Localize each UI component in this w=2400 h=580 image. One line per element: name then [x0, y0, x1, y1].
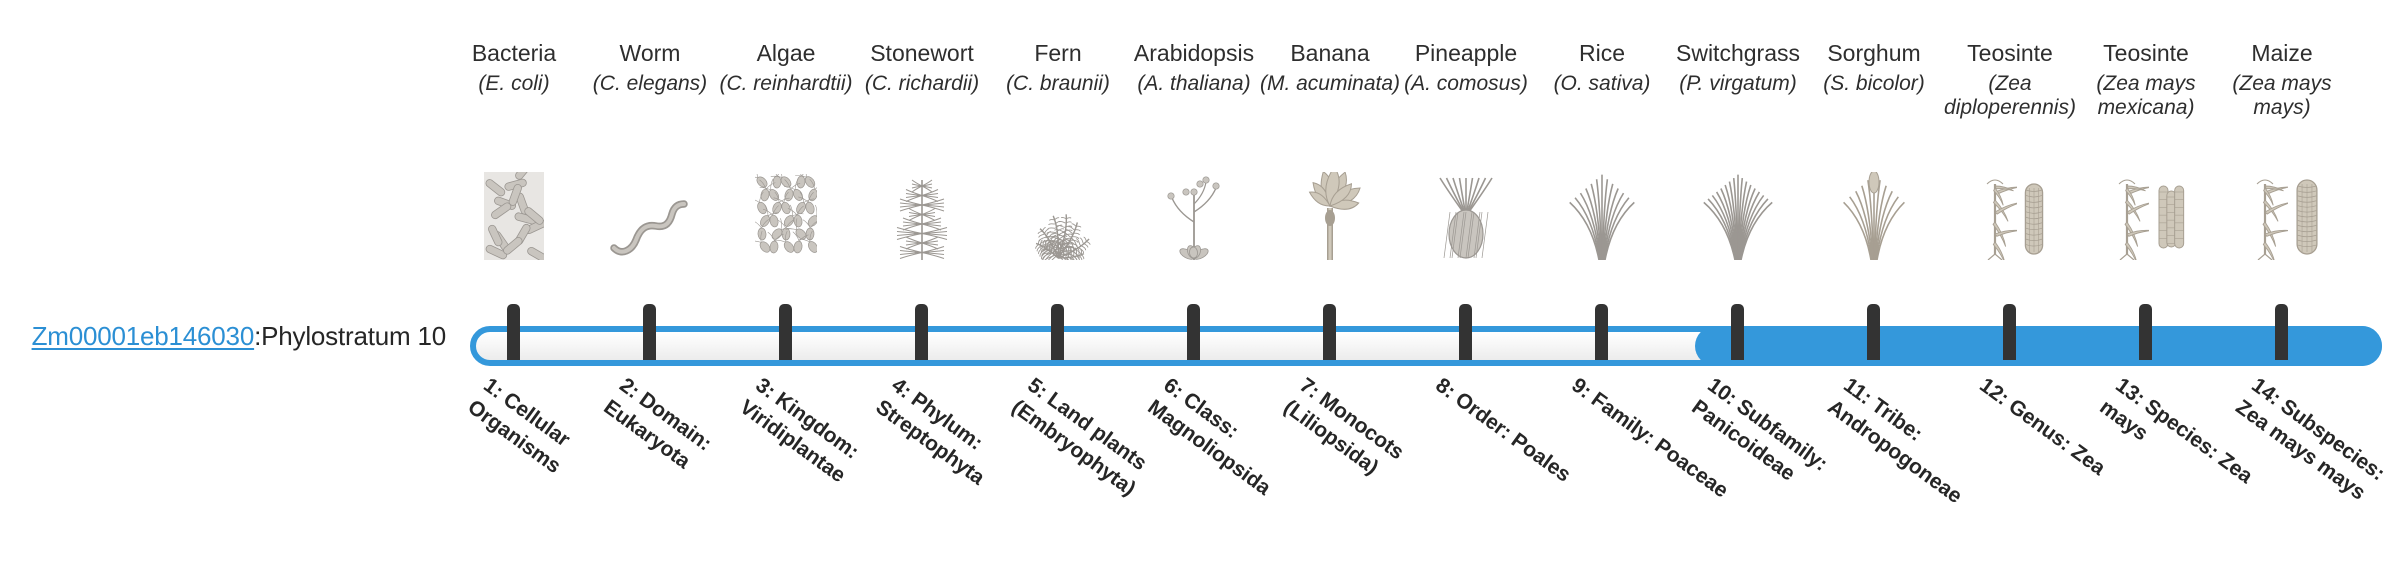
- rank-tick-1: [507, 304, 520, 360]
- arabidopsis-illustration: [1126, 168, 1262, 260]
- rank-label-wrapper: 3: Kingdom: Viridiplantae: [766, 372, 806, 572]
- species-scientific-name: (S. bicolor): [1802, 72, 1946, 96]
- species-common-name: Stonewort: [846, 40, 998, 66]
- rank-tick-4: [915, 304, 928, 360]
- species-scientific-name: (C. braunii): [986, 72, 1130, 96]
- species-column-13: Teosinte(Zea mays mexicana)13: Species: …: [2078, 0, 2214, 580]
- pineapple-illustration: [1398, 168, 1534, 260]
- rank-label-wrapper: 8: Order: Poales: [1446, 372, 1486, 572]
- fern-illustration: [990, 168, 1126, 260]
- rank-label-wrapper: 13: Species: Zea mays: [2126, 372, 2166, 572]
- rank-tick-14: [2275, 304, 2288, 360]
- species-common-name: Switchgrass: [1662, 40, 1814, 66]
- banana-illustration: [1262, 168, 1398, 260]
- algae-illustration: [718, 168, 854, 260]
- species-common-name: Bacteria: [438, 40, 590, 66]
- rank-label-wrapper: 2: Domain: Eukaryota: [630, 372, 670, 572]
- species-common-name: Rice: [1526, 40, 1678, 66]
- switchgrass-illustration: [1670, 168, 1806, 260]
- species-common-name: Banana: [1254, 40, 1406, 66]
- species-common-name: Fern: [982, 40, 1134, 66]
- rank-tick-13: [2139, 304, 2152, 360]
- rank-tick-10: [1731, 304, 1744, 360]
- bacteria-illustration: [446, 168, 582, 260]
- species-scientific-name: (Zea diploperennis): [1938, 72, 2082, 120]
- species-column-10: Switchgrass(P. virgatum)10: Subfamily: P…: [1670, 0, 1806, 580]
- rank-label-wrapper: 7: Monocots (Liliopsida): [1310, 372, 1350, 572]
- rank-label-wrapper: 10: Subfamily: Panicoideae: [1718, 372, 1758, 572]
- species-column-9: Rice(O. sativa)9: Family: Poaceae: [1534, 0, 1670, 580]
- worm-illustration: [582, 168, 718, 260]
- rank-tick-11: [1867, 304, 1880, 360]
- species-scientific-name: (E. coli): [442, 72, 586, 96]
- teosinte-mexicana-illustration: [2078, 168, 2214, 260]
- rank-tick-2: [643, 304, 656, 360]
- rank-label-wrapper: 5: Land plants (Embryophyta): [1038, 372, 1078, 572]
- rice-illustration: [1534, 168, 1670, 260]
- rank-tick-5: [1051, 304, 1064, 360]
- rank-label-wrapper: 11: Tribe: Andropogoneae: [1854, 372, 1894, 572]
- rank-label-wrapper: 12: Genus: Zea: [1990, 372, 2030, 572]
- teosinte-diploperennis-illustration: [1942, 168, 2078, 260]
- species-scientific-name: (A. thaliana): [1122, 72, 1266, 96]
- species-column-1: Bacteria(E. coli)1: Cellular Organisms: [446, 0, 582, 580]
- rank-label-wrapper: 9: Family: Poaceae: [1582, 372, 1622, 572]
- sorghum-illustration: [1806, 168, 1942, 260]
- species-scientific-name: (A. comosus): [1394, 72, 1538, 96]
- species-common-name: Arabidopsis: [1118, 40, 1270, 66]
- gene-id-link[interactable]: Zm00001eb146030: [32, 321, 255, 352]
- species-common-name: Pineapple: [1390, 40, 1542, 66]
- species-scientific-name: (C. richardii): [850, 72, 994, 96]
- species-scientific-name: (C. reinhardtii): [714, 72, 858, 96]
- rank-label-wrapper: 6: Class: Magnoliopsida: [1174, 372, 1214, 572]
- rank-tick-6: [1187, 304, 1200, 360]
- rank-tick-3: [779, 304, 792, 360]
- species-common-name: Algae: [710, 40, 862, 66]
- species-common-name: Sorghum: [1798, 40, 1950, 66]
- species-scientific-name: (P. virgatum): [1666, 72, 1810, 96]
- species-common-name: Worm: [574, 40, 726, 66]
- gene-label-separator: :: [254, 321, 261, 352]
- rank-label-wrapper: 1: Cellular Organisms: [494, 372, 534, 572]
- species-common-name: Maize: [2206, 40, 2358, 66]
- phylostratum-figure: Zm00001eb146030: Phylostratum 10 Bacteri…: [0, 0, 2400, 580]
- rank-label-wrapper: 4: Phylum: Streptophyta: [902, 372, 942, 572]
- rank-tick-8: [1459, 304, 1472, 360]
- species-columns: Bacteria(E. coli)1: Cellular OrganismsWo…: [446, 0, 2400, 580]
- species-scientific-name: (Zea mays mays): [2210, 72, 2354, 120]
- rank-tick-7: [1323, 304, 1336, 360]
- maize-illustration: [2214, 168, 2350, 260]
- gene-phylostratum-label: Zm00001eb146030: Phylostratum 10: [0, 316, 460, 356]
- rank-tick-12: [2003, 304, 2016, 360]
- species-scientific-name: (C. elegans): [578, 72, 722, 96]
- species-common-name: Teosinte: [2070, 40, 2222, 66]
- rank-tick-9: [1595, 304, 1608, 360]
- species-scientific-name: (M. acuminata): [1258, 72, 1402, 96]
- stonewort-illustration: [854, 168, 990, 260]
- species-scientific-name: (Zea mays mexicana): [2074, 72, 2218, 120]
- species-common-name: Teosinte: [1934, 40, 2086, 66]
- species-scientific-name: (O. sativa): [1530, 72, 1674, 96]
- phylostratum-value-text: Phylostratum 10: [261, 321, 446, 352]
- rank-label-wrapper: 14: Subspecies: Zea mays mays: [2262, 372, 2302, 572]
